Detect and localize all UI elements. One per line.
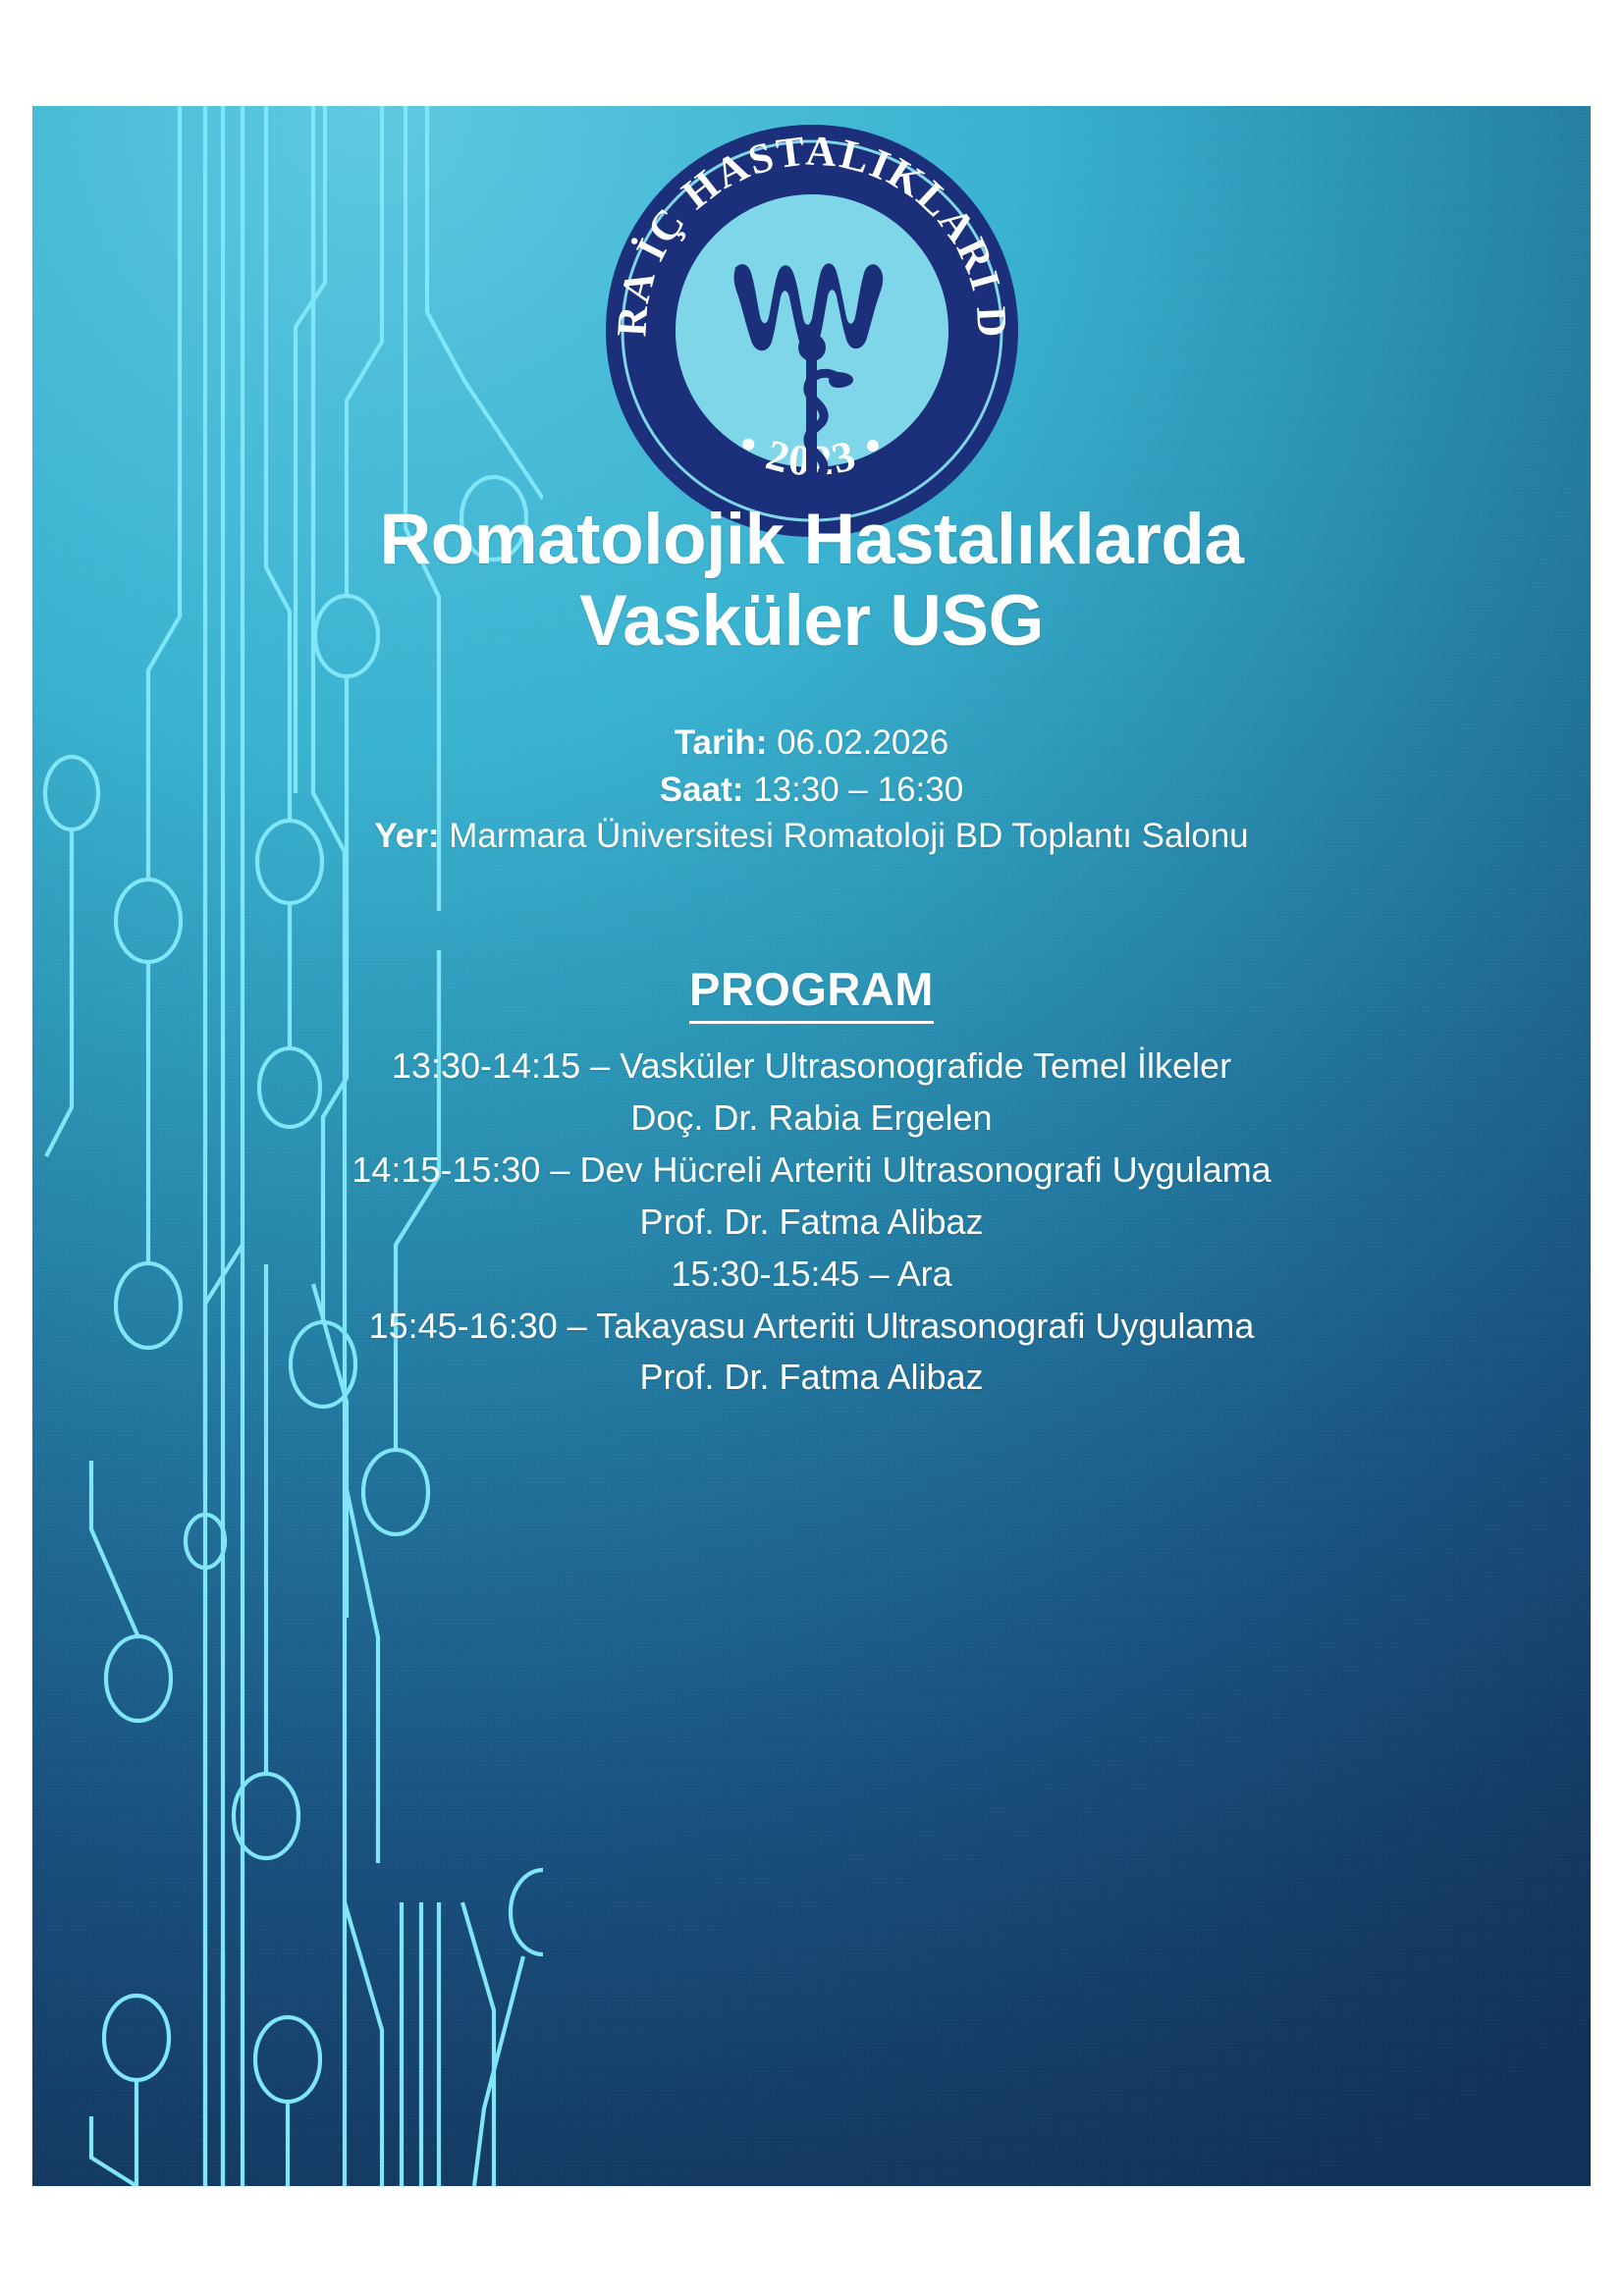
program-heading-text: PROGRAM bbox=[689, 962, 934, 1024]
event-time-value: 13:30 – 16:30 bbox=[743, 771, 963, 809]
event-place-row: Yer: Marmara Üniversitesi Romatoloji BD … bbox=[32, 813, 1591, 860]
program-item: 15:45-16:30 – Takayasu Arteriti Ultrason… bbox=[32, 1301, 1591, 1353]
event-time-row: Saat: 13:30 – 16:30 bbox=[32, 767, 1591, 814]
event-place-value: Marmara Üniversitesi Romatoloji BD Topla… bbox=[440, 817, 1249, 855]
poster-title: Romatolojik Hastalıklarda Vasküler USG bbox=[32, 499, 1591, 662]
event-date-label: Tarih: bbox=[675, 723, 768, 762]
program-heading: PROGRAM bbox=[32, 962, 1591, 1024]
event-date-value: 06.02.2026 bbox=[767, 723, 948, 762]
event-poster: MARMARA İÇ HASTALIKLARI DERNEĞİ • 2023 • bbox=[32, 106, 1591, 2186]
event-date-row: Tarih: 06.02.2026 bbox=[32, 720, 1591, 767]
program-item: Prof. Dr. Fatma Alibaz bbox=[32, 1197, 1591, 1249]
association-logo: MARMARA İÇ HASTALIKLARI DERNEĞİ • 2023 • bbox=[595, 114, 1029, 548]
poster-title-line-1: Romatolojik Hastalıklarda bbox=[32, 499, 1591, 580]
event-time-label: Saat: bbox=[660, 771, 744, 809]
program-item: 13:30-14:15 – Vasküler Ultrasonografide … bbox=[32, 1041, 1591, 1093]
program-item: 15:30-15:45 – Ara bbox=[32, 1249, 1591, 1301]
program-list: 13:30-14:15 – Vasküler Ultrasonografide … bbox=[32, 1041, 1591, 1404]
program-item: Prof. Dr. Fatma Alibaz bbox=[32, 1352, 1591, 1404]
event-place-label: Yer: bbox=[374, 817, 439, 855]
program-item: 14:15-15:30 – Dev Hücreli Arteriti Ultra… bbox=[32, 1145, 1591, 1197]
program-item: Doç. Dr. Rabia Ergelen bbox=[32, 1093, 1591, 1145]
poster-title-line-2: Vasküler USG bbox=[32, 580, 1591, 662]
event-details: Tarih: 06.02.2026 Saat: 13:30 – 16:30 Ye… bbox=[32, 720, 1591, 860]
